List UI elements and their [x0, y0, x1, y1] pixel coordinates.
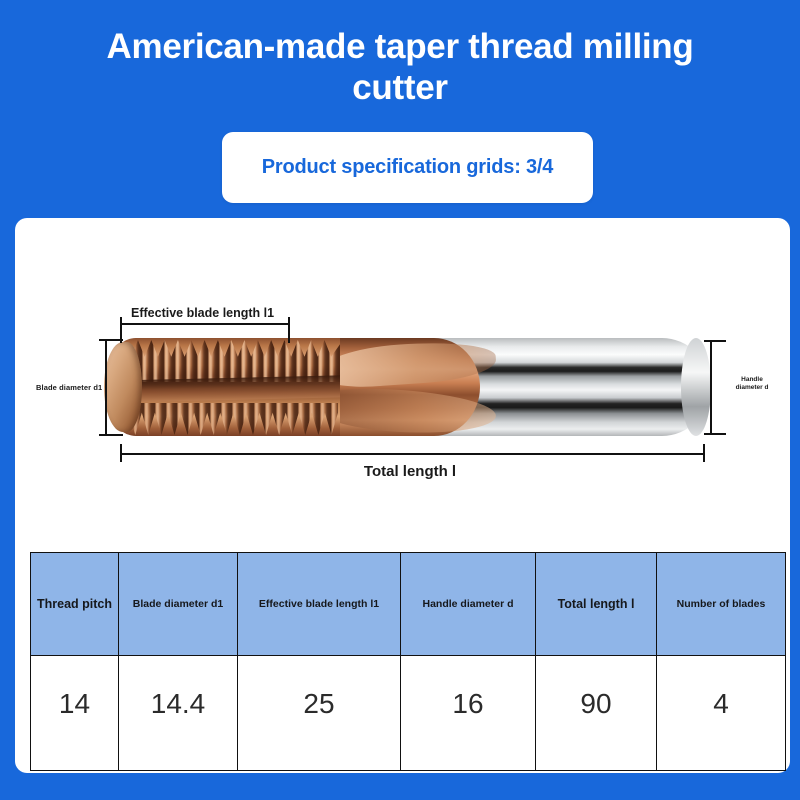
dim-tick-total-right: [703, 444, 705, 462]
tool-diagram: Effective blade length l1 Blade diameter…: [15, 218, 790, 518]
spec-grid-badge[interactable]: Product specification grids: 3/4: [222, 132, 593, 203]
milling-cutter-illustration: [110, 338, 710, 436]
specification-table: Thread pitch Blade diameter d1 Effective…: [30, 552, 786, 771]
label-effective-blade-length: Effective blade length l1: [131, 306, 274, 320]
dim-line-total-length: [120, 453, 705, 455]
dim-tick-l1-right: [288, 317, 290, 343]
product-detail-card: Effective blade length l1 Blade diameter…: [15, 218, 790, 773]
table-header-total-length: Total length l: [536, 553, 657, 656]
table-cell-effective-blade-length: 25: [238, 656, 401, 771]
shank-end-cap: [681, 338, 711, 436]
dim-tick-d-bottom: [704, 433, 726, 435]
dim-line-blade-diameter: [105, 339, 107, 435]
table-cell-handle-diameter: 16: [401, 656, 536, 771]
label-blade-diameter: Blade diameter d1: [36, 383, 102, 392]
dim-line-handle-diameter: [710, 340, 712, 434]
dim-tick-d-top: [704, 340, 726, 342]
dim-tick-total-left: [120, 444, 122, 462]
label-total-length: Total length l: [195, 463, 625, 480]
dim-tick-d1-top: [99, 339, 123, 341]
table-cell-number-of-blades: 4: [657, 656, 786, 771]
table-header-number-of-blades: Number of blades: [657, 553, 786, 656]
threaded-cutting-section: [110, 338, 340, 436]
table-cell-total-length: 90: [536, 656, 657, 771]
helical-flute-band: [114, 375, 340, 402]
spec-grid-badge-label: Product specification grids: 3/4: [262, 156, 553, 179]
cutter-nose-face: [104, 342, 142, 432]
table-header-handle-diameter: Handle diameter d: [401, 553, 536, 656]
table-cell-blade-diameter: 14.4: [119, 656, 238, 771]
dim-line-effective-blade-length: [120, 323, 290, 325]
table-cell-thread-pitch: 14: [31, 656, 119, 771]
table-header-effective-blade-length: Effective blade length l1: [238, 553, 401, 656]
table-header-thread-pitch: Thread pitch: [31, 553, 119, 656]
thread-teeth-lower: [120, 403, 338, 435]
table-header-row: Thread pitch Blade diameter d1 Effective…: [31, 553, 786, 656]
label-handle-diameter: Handle diameter d: [729, 376, 775, 392]
table-row: 14 14.4 25 16 90 4: [31, 656, 786, 771]
table-header-blade-diameter: Blade diameter d1: [119, 553, 238, 656]
page-title: American-made taper thread milling cutte…: [0, 26, 800, 109]
dim-tick-d1-bottom: [99, 434, 123, 436]
